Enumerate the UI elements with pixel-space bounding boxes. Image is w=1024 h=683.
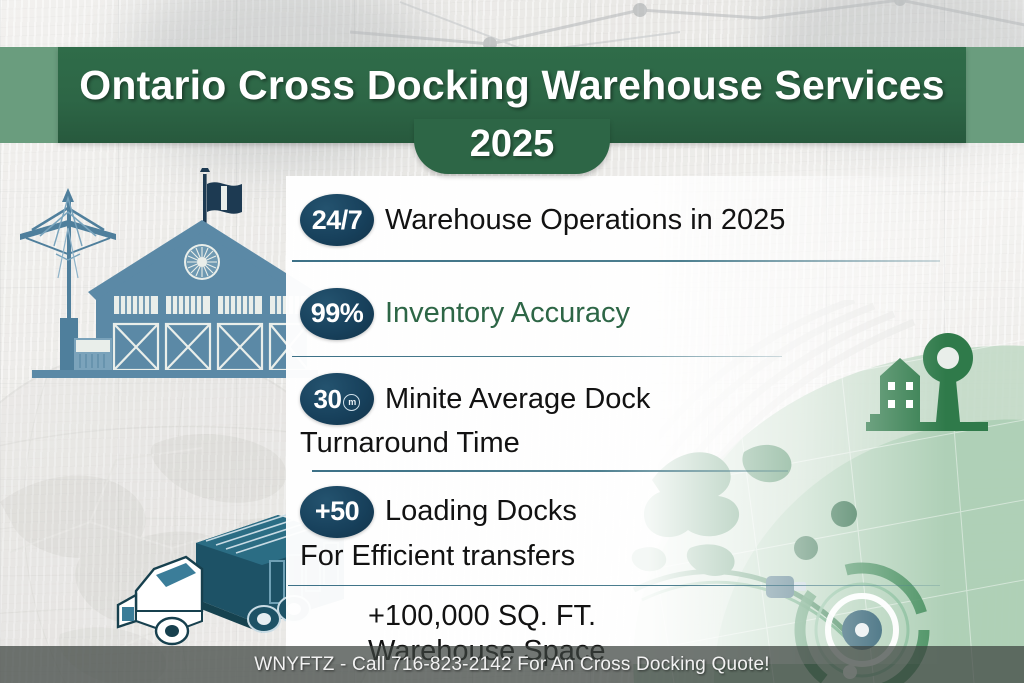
stat-row: 24/7 Warehouse Operations in 2025 [300,194,940,262]
stat-label-plain: For Efficient [300,540,462,572]
stat-row: +50 Loading Docks For Efficient transfer… [300,486,940,587]
stat-label: Loading Docks [385,495,577,528]
stat-badge: 30 m [300,373,374,425]
year-label: 2025 [470,125,555,163]
infographic-poster: Ontario Cross Docking Warehouse Services… [0,0,1024,683]
stat-label-highlight: transfers [462,540,575,572]
row-divider [292,356,782,358]
stat-badge: 99% [300,288,374,340]
year-tab: 2025 [414,119,610,174]
footer-bar: WNYFTZ - Call 716-823-2142 For An Cross … [0,646,1024,683]
stat-badge: +50 [300,486,374,538]
stat-badge-value: 30 [314,384,342,415]
stat-label: +100,000 SQ. FT. [368,600,940,633]
stat-label-secondary: For Efficient transfers [300,540,940,573]
warehouse-building-illustration [14,168,324,398]
stat-badge: 24/7 [300,194,374,246]
minute-symbol-icon: m [343,394,360,411]
stats-list: 24/7 Warehouse Operations in 2025 99% In… [300,190,940,668]
row-divider [292,260,940,262]
stat-label-secondary: Turnaround Time [300,427,940,460]
row-divider [312,470,788,472]
row-divider [288,585,940,587]
warehouse-shape [32,220,318,378]
stat-row: 30 m Minite Average Dock Turnaround Time [300,373,940,472]
footer-text: WNYFTZ - Call 716-823-2142 For An Cross … [254,654,770,676]
stat-label: Inventory Accuracy [385,297,630,330]
stat-badge-value: 99% [311,298,364,329]
page-title: Ontario Cross Docking Warehouse Services [58,62,966,109]
stat-badge-value: +50 [315,496,359,527]
stat-label: Minite Average Dock [385,383,650,416]
stat-row: 99% Inventory Accuracy [300,288,940,358]
stat-label: Warehouse Operations in 2025 [385,204,785,237]
stat-badge-value: 24/7 [312,205,363,236]
